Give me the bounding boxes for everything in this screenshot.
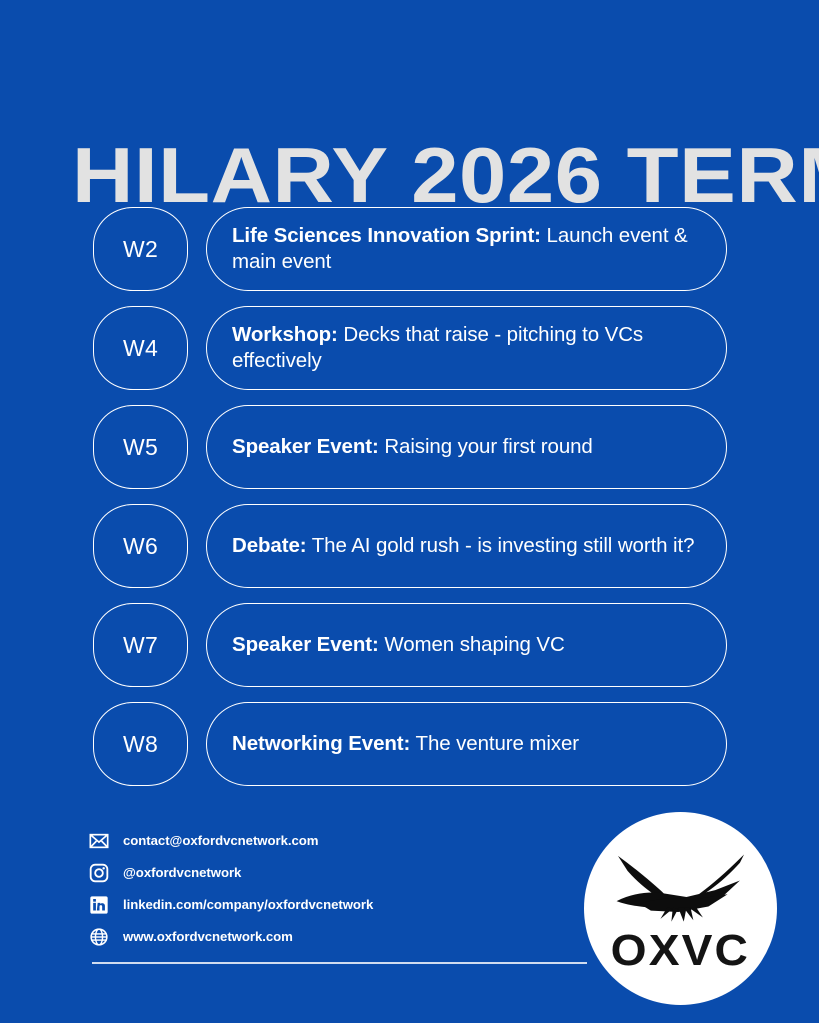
term-card-poster: HILARY 2026 TERM CARD W2 Life Sciences I…: [0, 0, 819, 1023]
footer-divider: [92, 962, 587, 964]
contact-website-text: www.oxfordvcnetwork.com: [123, 929, 293, 944]
event-card-w7[interactable]: Speaker Event: Women shaping VC: [206, 603, 727, 687]
week-badge-w2: W2: [93, 207, 188, 291]
week-label: W8: [123, 731, 158, 758]
contact-row-website[interactable]: www.oxfordvcnetwork.com: [88, 924, 528, 949]
event-description: Life Sciences Innovation Sprint: Launch …: [232, 223, 702, 275]
contact-email-text: contact@oxfordvcnetwork.com: [123, 833, 318, 848]
event-lead: Networking Event:: [232, 732, 410, 755]
event-detail: Raising your first round: [384, 435, 592, 458]
contact-row-email[interactable]: contact@oxfordvcnetwork.com: [88, 828, 528, 853]
event-lead: Speaker Event:: [232, 633, 379, 656]
schedule-list: W2 Life Sciences Innovation Sprint: Laun…: [0, 207, 819, 801]
schedule-row: W6 Debate: The AI gold rush - is investi…: [0, 504, 819, 588]
event-card-w4[interactable]: Workshop: Decks that raise - pitching to…: [206, 306, 727, 390]
instagram-icon: [88, 862, 109, 883]
event-description: Speaker Event: Women shaping VC: [232, 632, 565, 658]
event-description: Debate: The AI gold rush - is investing …: [232, 533, 694, 559]
oxvc-logo: OXVC: [584, 812, 777, 1005]
schedule-row: W7 Speaker Event: Women shaping VC: [0, 603, 819, 687]
logo-wordmark: OXVC: [611, 929, 750, 973]
contact-list: contact@oxfordvcnetwork.com @oxfordvcnet…: [88, 828, 528, 956]
event-lead: Workshop:: [232, 323, 338, 346]
linkedin-icon: [88, 894, 109, 915]
event-card-w2[interactable]: Life Sciences Innovation Sprint: Launch …: [206, 207, 727, 291]
event-lead: Life Sciences Innovation Sprint:: [232, 224, 541, 247]
week-label: W6: [123, 533, 158, 560]
schedule-row: W4 Workshop: Decks that raise - pitching…: [0, 306, 819, 390]
envelope-icon: [88, 830, 109, 851]
event-description: Workshop: Decks that raise - pitching to…: [232, 322, 702, 374]
schedule-row: W8 Networking Event: The venture mixer: [0, 702, 819, 786]
globe-icon: [88, 926, 109, 947]
week-label: W4: [123, 335, 158, 362]
week-label: W2: [123, 236, 158, 263]
week-badge-w8: W8: [93, 702, 188, 786]
schedule-row: W5 Speaker Event: Raising your first rou…: [0, 405, 819, 489]
eagle-icon: [612, 849, 750, 923]
event-card-w5[interactable]: Speaker Event: Raising your first round: [206, 405, 727, 489]
week-badge-w4: W4: [93, 306, 188, 390]
week-badge-w7: W7: [93, 603, 188, 687]
event-detail: The venture mixer: [416, 732, 580, 755]
contact-linkedin-text: linkedin.com/company/oxfordvcnetwork: [123, 897, 373, 912]
event-lead: Debate:: [232, 534, 306, 557]
event-detail: Women shaping VC: [384, 633, 564, 656]
week-label: W7: [123, 632, 158, 659]
week-badge-w6: W6: [93, 504, 188, 588]
week-badge-w5: W5: [93, 405, 188, 489]
event-description: Networking Event: The venture mixer: [232, 731, 579, 757]
week-label: W5: [123, 434, 158, 461]
page-title: HILARY 2026 TERM CARD: [72, 132, 819, 218]
event-card-w8[interactable]: Networking Event: The venture mixer: [206, 702, 727, 786]
schedule-row: W2 Life Sciences Innovation Sprint: Laun…: [0, 207, 819, 291]
contact-instagram-text: @oxfordvcnetwork: [123, 865, 241, 880]
contact-row-linkedin[interactable]: linkedin.com/company/oxfordvcnetwork: [88, 892, 528, 917]
contact-row-instagram[interactable]: @oxfordvcnetwork: [88, 860, 528, 885]
event-description: Speaker Event: Raising your first round: [232, 434, 593, 460]
event-lead: Speaker Event:: [232, 435, 379, 458]
event-card-w6[interactable]: Debate: The AI gold rush - is investing …: [206, 504, 727, 588]
event-detail: The AI gold rush - is investing still wo…: [312, 534, 695, 557]
